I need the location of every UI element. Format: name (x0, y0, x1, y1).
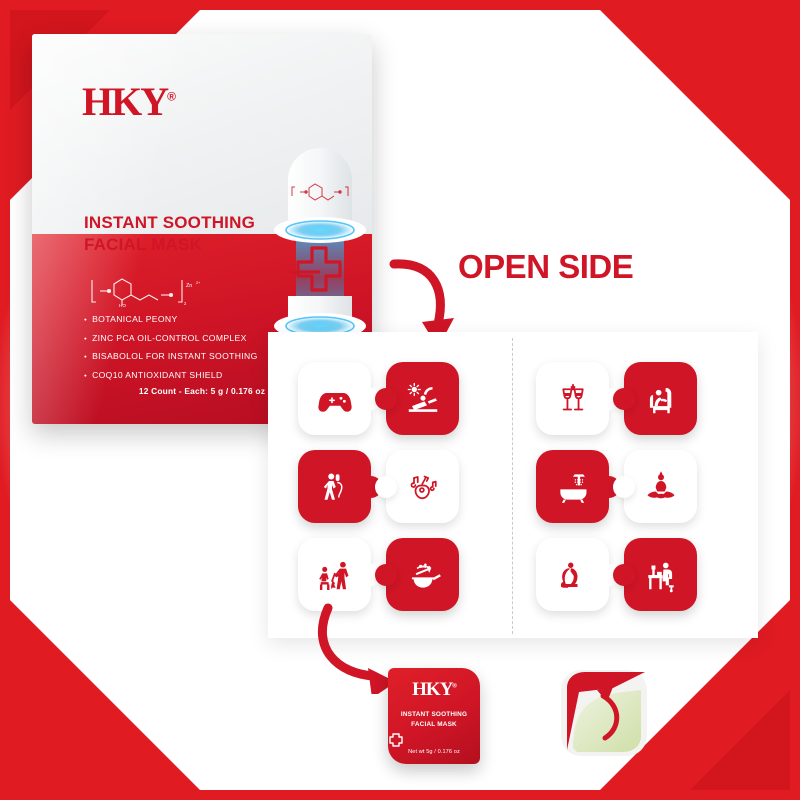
opened-sachet-with-sheet (553, 662, 655, 764)
singer-microphone-icon (298, 450, 371, 523)
icon-tile-wine-toast (536, 362, 609, 435)
bullet-item: COQ10 ANTIOXIDANT SHIELD (84, 370, 258, 380)
cooking-wok-icon (386, 538, 459, 611)
icon-tile-sunbathing (386, 362, 459, 435)
meditation-lotus-icon (624, 450, 697, 523)
sachet-brand-text: HKY (412, 679, 452, 700)
icon-tile-armchair-relax (624, 362, 697, 435)
open-side-callout: OPEN SIDE (458, 248, 633, 286)
product-marketing-image: HKY® INSTANT SOOTHING FACIAL MASK HO (0, 0, 800, 800)
bathtub-shower-icon (536, 450, 609, 523)
sachet-product-title: INSTANT SOOTHING FACIAL MASK (388, 710, 480, 729)
box-ingredient-bullets: BOTANICAL PEONY ZINC PCA OIL-CONTROL COM… (84, 314, 258, 388)
frame-edge-left (0, 0, 10, 800)
frame-edge-bottom (0, 790, 800, 800)
sachet-brand-logo: HKY® (388, 679, 480, 701)
icon-tile-desk-work (624, 538, 697, 611)
frame-edge-right (790, 0, 800, 800)
wine-toast-icon (536, 362, 609, 435)
icon-grid-panel (268, 332, 758, 638)
icon-tile-meditation-lotus (624, 450, 697, 523)
yoga-stretch-icon (536, 538, 609, 611)
sachet-title-line-1: INSTANT SOOTHING (388, 710, 480, 720)
corner-wedge-bottom-right-dark (680, 680, 800, 800)
bullet-item: BOTANICAL PEONY (84, 314, 258, 324)
bullet-item: BISABOLOL FOR INSTANT SOOTHING (84, 351, 258, 361)
icon-tile-guitar-music (386, 450, 459, 523)
single-sachet: HKY® INSTANT SOOTHING FACIAL MASK Net wt… (388, 668, 480, 764)
trademark-symbol: ® (167, 90, 174, 104)
icon-tile-singer-microphone (298, 450, 371, 523)
frame-edge-top (0, 0, 800, 10)
box-brand-logo: HKY® (82, 82, 174, 122)
icon-tile-gamepad (298, 362, 371, 435)
sachet-cross-icon (388, 732, 480, 748)
gamepad-icon (298, 362, 371, 435)
icon-tile-campfire-guitar (298, 538, 371, 611)
perforation-line (512, 338, 513, 634)
molecule-subscript-label: 2 (184, 301, 187, 306)
bullet-item: ZINC PCA OIL-CONTROL COMPLEX (84, 333, 258, 343)
sachet-title-line-2: FACIAL MASK (388, 720, 480, 730)
brand-name-text: HKY (82, 79, 167, 124)
sachet-net-weight: Net wt 5g / 0.176 oz (388, 749, 480, 755)
icon-tile-cooking-wok (386, 538, 459, 611)
box-molecule-diagram: HO Zn 2+ 2 (86, 274, 206, 308)
icon-tile-bathtub-shower (536, 450, 609, 523)
campfire-guitar-icon (298, 538, 371, 611)
molecule-oh-label: HO (119, 303, 126, 308)
corner-wedge-bottom-left (0, 590, 210, 800)
corner-wedge-top-right (590, 0, 800, 210)
product-title-line-1: INSTANT SOOTHING (84, 212, 255, 234)
molecule-charge-label: 2+ (196, 281, 201, 285)
sunbathing-icon (386, 362, 459, 435)
sachet-trademark: ® (452, 684, 455, 690)
product-title-line-2: FACIAL MASK (84, 234, 255, 256)
armchair-relax-icon (624, 362, 697, 435)
desk-work-icon (624, 538, 697, 611)
guitar-music-icon (386, 450, 459, 523)
icon-tile-yoga-stretch (536, 538, 609, 611)
molecule-zinc-label: Zn (186, 283, 192, 289)
box-product-title: INSTANT SOOTHING FACIAL MASK (84, 212, 255, 257)
